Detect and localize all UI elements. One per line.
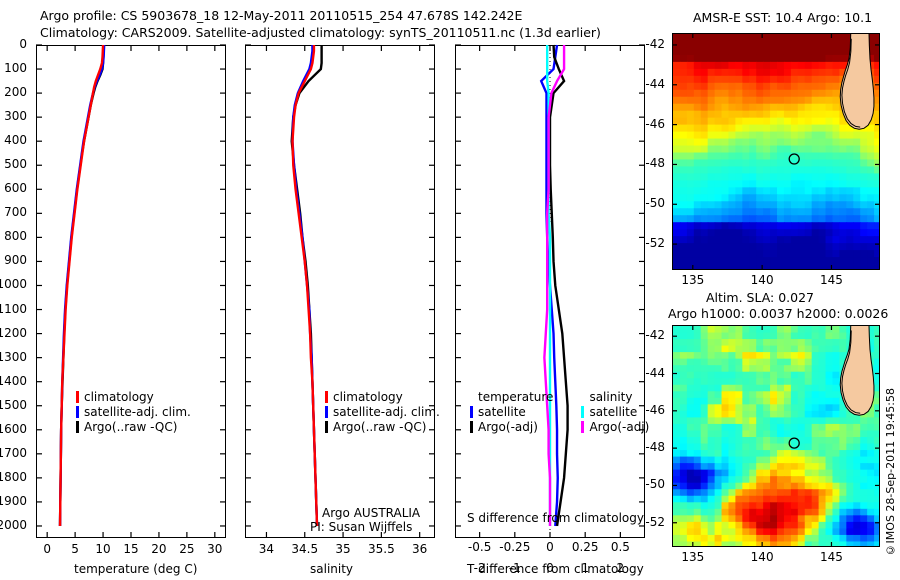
legend-item: Argo(-adj) — [470, 420, 553, 435]
legend-label: Argo(-adj) — [589, 420, 649, 434]
imos-credit: ©IMOS 28-Sep-2011 19:45:58 — [884, 388, 897, 556]
legend-item: satellite-adj. clim. — [325, 405, 440, 420]
legend-color-swatch — [325, 391, 328, 403]
legend-label: climatology — [84, 390, 154, 404]
legend-color-swatch — [325, 421, 328, 433]
legend-header: salinity — [589, 390, 649, 405]
legend-item: satellite — [470, 405, 553, 420]
legend-column: salinitysatelliteArgo(-adj) — [581, 390, 649, 435]
legend-label: satellite — [478, 405, 526, 419]
salinity-plot-svg — [245, 45, 435, 538]
legend-label: Argo(-adj) — [478, 420, 538, 434]
legend-color-swatch — [581, 421, 584, 433]
legend-color-swatch — [470, 406, 473, 418]
legend-label: Argo(..raw -QC) — [333, 420, 426, 434]
sst-map-ticks — [672, 33, 880, 270]
difference-axis-label-top: S difference from climatology — [467, 511, 644, 525]
legend-label: Argo(..raw -QC) — [84, 420, 177, 434]
argo-pi-label: PI: Susan Wijffels — [310, 520, 412, 534]
sla-map-title-line1: Altim. SLA: 0.027 — [706, 290, 814, 305]
legend-item: Argo(..raw -QC) — [76, 420, 191, 435]
legend-item: Argo(..raw -QC) — [325, 420, 440, 435]
difference-axis-label-bottom: T difference from climatology — [467, 562, 644, 576]
legend-column: temperaturesatelliteArgo(-adj) — [470, 390, 553, 435]
legend-color-swatch — [76, 421, 79, 433]
sla-map-ticks — [672, 325, 880, 547]
legend-color-swatch — [76, 406, 79, 418]
legend-color-swatch — [470, 421, 473, 433]
legend-label: climatology — [333, 390, 403, 404]
legend-item: climatology — [325, 390, 440, 405]
difference-legend: temperaturesatelliteArgo(-adj)salinitysa… — [470, 390, 649, 435]
legend-header: temperature — [478, 390, 553, 405]
sst-map-title: AMSR-E SST: 10.4 Argo: 10.1 — [693, 10, 872, 25]
legend-label: satellite-adj. clim. — [333, 405, 440, 419]
legend-item: Argo(-adj) — [581, 420, 649, 435]
legend-color-swatch — [581, 406, 584, 418]
temperature-legend: climatologysatellite-adj. clim.Argo(..ra… — [76, 390, 191, 435]
legend-item: climatology — [76, 390, 191, 405]
temperature-axis-label: temperature (deg C) — [74, 562, 197, 576]
legend-color-swatch — [76, 391, 79, 403]
salinity-axis-label: salinity — [310, 562, 353, 576]
legend-item: satellite — [581, 405, 649, 420]
difference-plot-svg — [455, 45, 645, 538]
salinity-legend: climatologysatellite-adj. clim.Argo(..ra… — [325, 390, 440, 435]
figure-title-line2: Climatology: CARS2009. Satellite-adjuste… — [40, 25, 601, 40]
legend-color-swatch — [325, 406, 328, 418]
sla-map-title-line2: Argo h1000: 0.0037 h2000: 0.0026 — [668, 306, 888, 321]
argo-australia-label: Argo AUSTRALIA — [322, 506, 420, 520]
temperature-plot-svg — [36, 45, 226, 538]
legend-label: satellite — [589, 405, 637, 419]
legend-item: satellite-adj. clim. — [76, 405, 191, 420]
figure-title-line1: Argo profile: CS 5903678_18 12-May-2011 … — [40, 8, 522, 23]
legend-label: satellite-adj. clim. — [84, 405, 191, 419]
